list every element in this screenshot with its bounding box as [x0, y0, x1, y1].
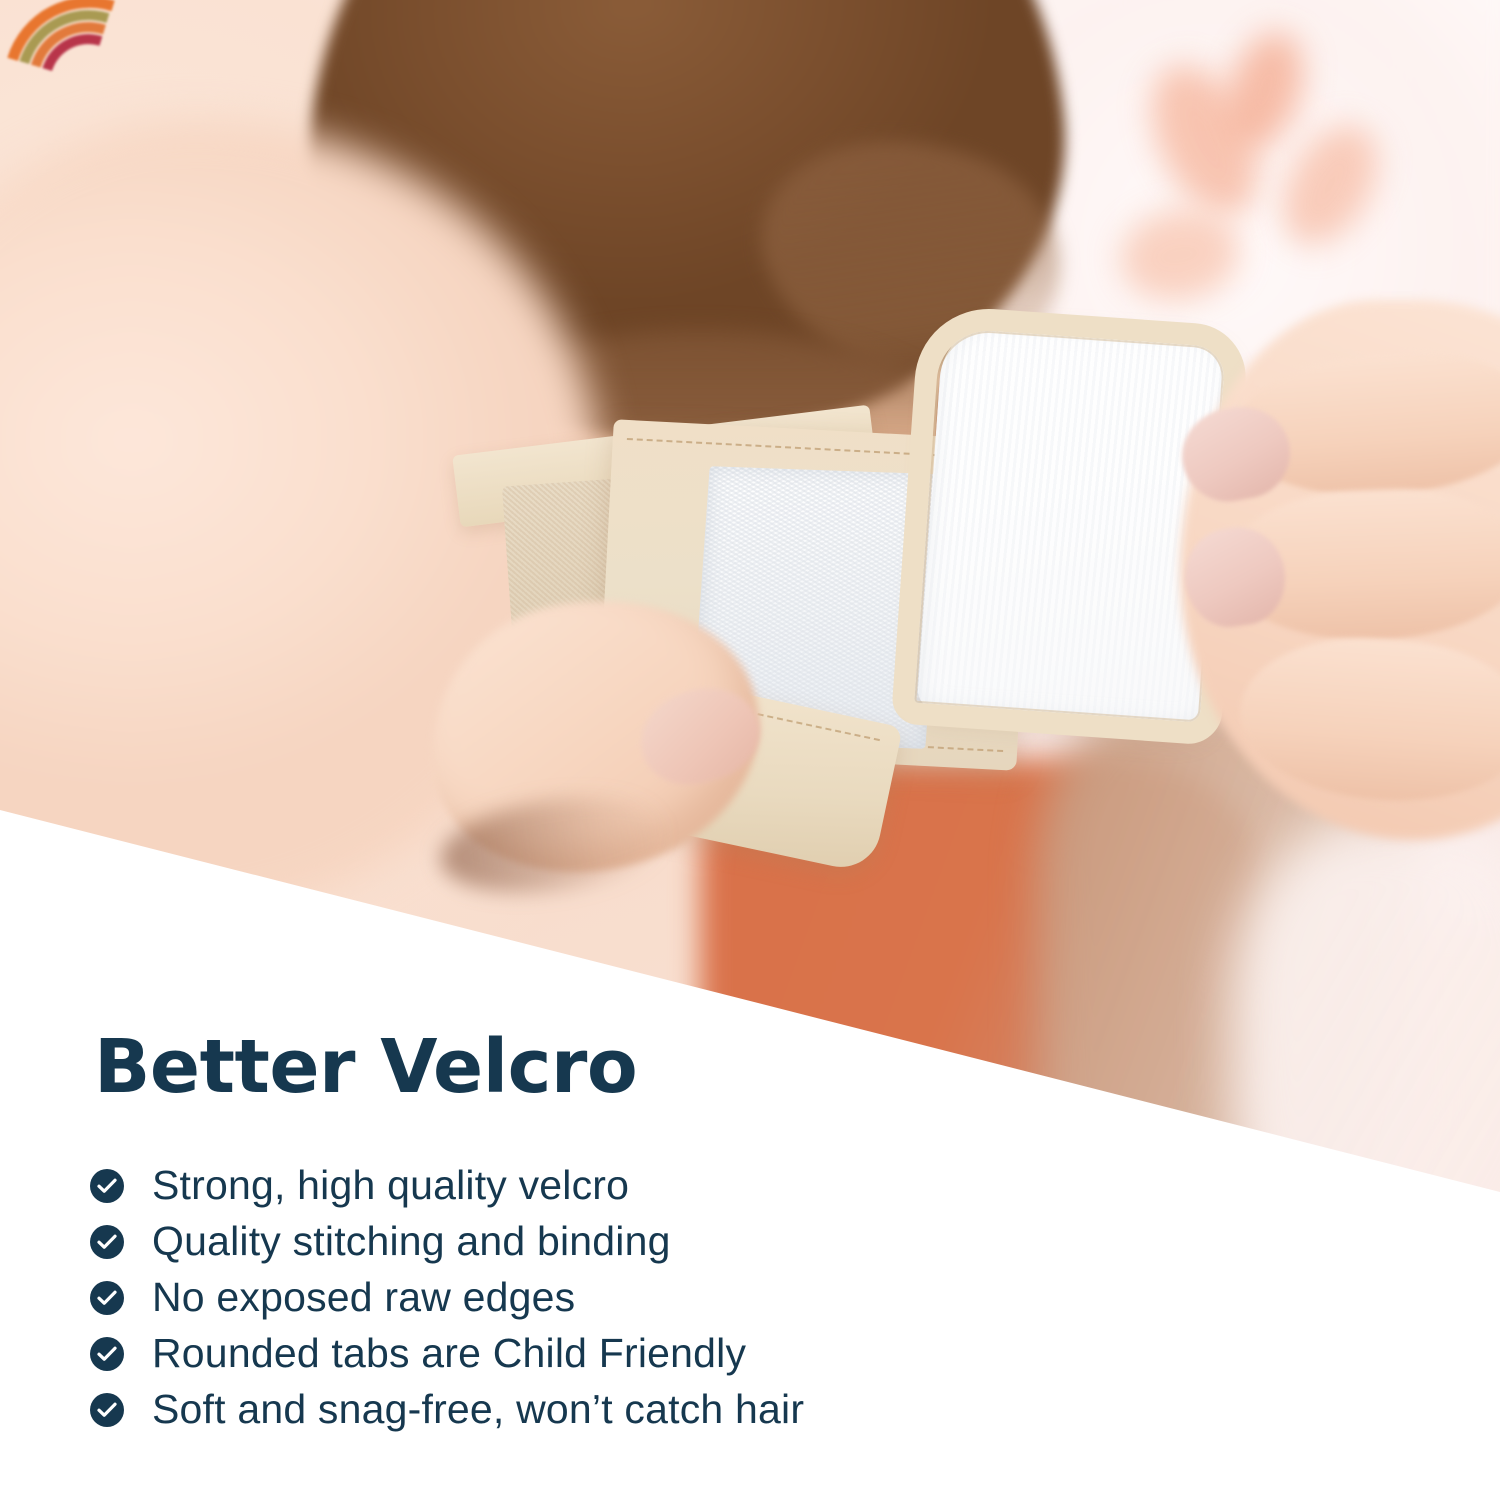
- list-item-label: No exposed raw edges: [152, 1277, 575, 1318]
- list-item: Rounded tabs are Child Friendly: [90, 1326, 1190, 1381]
- list-item-label: Rounded tabs are Child Friendly: [152, 1333, 746, 1374]
- check-circle-icon: [90, 1225, 124, 1259]
- feature-list: Strong, high quality velcro Quality stit…: [90, 1158, 1190, 1438]
- page-title: Better Velcro: [94, 1030, 637, 1104]
- list-item: Soft and snag-free, won’t catch hair: [90, 1382, 1190, 1437]
- list-item: No exposed raw edges: [90, 1270, 1190, 1325]
- feature-text-block: Better Velcro Strong, high quality velcr…: [0, 0, 1500, 1500]
- list-item: Strong, high quality velcro: [90, 1158, 1190, 1213]
- check-circle-icon: [90, 1169, 124, 1203]
- list-item-label: Strong, high quality velcro: [152, 1165, 629, 1206]
- list-item-label: Soft and snag-free, won’t catch hair: [152, 1389, 804, 1430]
- check-circle-icon: [90, 1337, 124, 1371]
- check-circle-icon: [90, 1393, 124, 1427]
- product-feature-card: Better Velcro Strong, high quality velcr…: [0, 0, 1500, 1500]
- list-item: Quality stitching and binding: [90, 1214, 1190, 1269]
- check-circle-icon: [90, 1281, 124, 1315]
- list-item-label: Quality stitching and binding: [152, 1221, 671, 1262]
